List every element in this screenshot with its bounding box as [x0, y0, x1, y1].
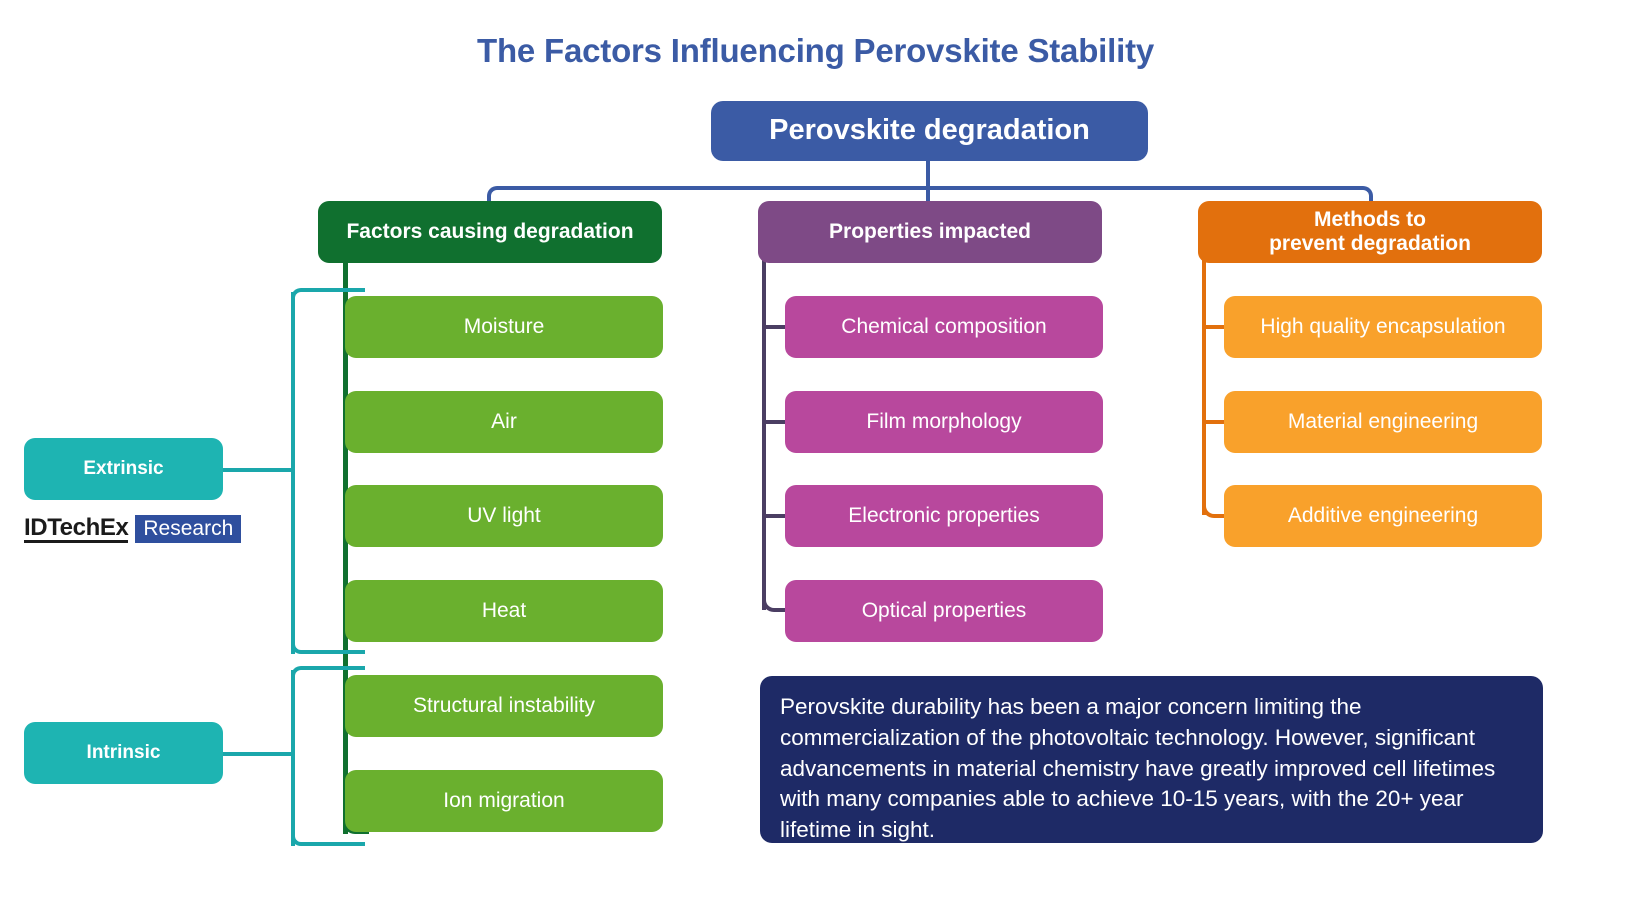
summary-note-text: Perovskite durability has been a major c…: [780, 694, 1495, 842]
column-header-properties-label: Properties impacted: [829, 220, 1031, 244]
intrinsic-lead-line: [223, 752, 293, 756]
leaf-optical-properties-label: Optical properties: [862, 599, 1027, 623]
intrinsic-bracket-bottom-arm: [305, 842, 365, 846]
column-header-methods-line1: Methods to: [1314, 208, 1426, 232]
group-node-intrinsic-label: Intrinsic: [87, 742, 161, 764]
leaf-moisture-label: Moisture: [464, 315, 545, 339]
properties-spine: [762, 258, 766, 610]
summary-note-panel: Perovskite durability has been a major c…: [760, 676, 1543, 843]
leaf-material-engineering-label: Material engineering: [1288, 410, 1478, 434]
column-header-factors[interactable]: Factors causing degradation: [318, 201, 662, 263]
root-connector-bus: [497, 186, 1363, 190]
methods-stub-1: [1202, 325, 1226, 329]
leaf-chemical-composition[interactable]: Chemical composition: [785, 296, 1103, 358]
extrinsic-lead-line: [223, 468, 293, 472]
group-node-extrinsic[interactable]: Extrinsic: [24, 438, 223, 500]
diagram-canvas: The Factors Influencing Perovskite Stabi…: [0, 0, 1631, 918]
root-node-label: Perovskite degradation: [769, 114, 1090, 147]
leaf-air[interactable]: Air: [345, 391, 663, 453]
column-header-properties[interactable]: Properties impacted: [758, 201, 1102, 263]
group-node-intrinsic[interactable]: Intrinsic: [24, 722, 223, 784]
leaf-optical-properties[interactable]: Optical properties: [785, 580, 1103, 642]
leaf-ion-migration[interactable]: Ion migration: [345, 770, 663, 832]
leaf-high-quality-encapsulation[interactable]: High quality encapsulation: [1224, 296, 1542, 358]
idtechex-logo-research-badge: Research: [135, 515, 241, 543]
column-header-methods[interactable]: Methods to prevent degradation: [1198, 201, 1542, 263]
leaf-high-quality-encapsulation-label: High quality encapsulation: [1260, 315, 1505, 339]
intrinsic-bracket-top-arm: [305, 666, 365, 670]
leaf-uv-light-label: UV light: [467, 504, 541, 528]
leaf-additive-engineering-label: Additive engineering: [1288, 504, 1478, 528]
leaf-electronic-properties-label: Electronic properties: [848, 504, 1039, 528]
leaf-structural-instability[interactable]: Structural instability: [345, 675, 663, 737]
leaf-material-engineering[interactable]: Material engineering: [1224, 391, 1542, 453]
leaf-air-label: Air: [491, 410, 517, 434]
leaf-structural-instability-label: Structural instability: [413, 694, 595, 718]
page-title: The Factors Influencing Perovskite Stabi…: [0, 32, 1631, 70]
idtechex-logo: IDTechEx Research: [24, 515, 241, 543]
leaf-ion-migration-label: Ion migration: [443, 789, 564, 813]
leaf-electronic-properties[interactable]: Electronic properties: [785, 485, 1103, 547]
extrinsic-bracket-vertical: [291, 292, 295, 654]
leaf-heat-label: Heat: [482, 599, 526, 623]
leaf-film-morphology[interactable]: Film morphology: [785, 391, 1103, 453]
properties-stub-1: [762, 325, 786, 329]
idtechex-logo-wordmark: IDTechEx: [24, 515, 128, 543]
intrinsic-bracket-vertical: [291, 670, 295, 846]
group-node-extrinsic-label: Extrinsic: [83, 458, 163, 480]
properties-stub-3: [762, 514, 786, 518]
leaf-moisture[interactable]: Moisture: [345, 296, 663, 358]
properties-stub-2: [762, 420, 786, 424]
leaf-film-morphology-label: Film morphology: [866, 410, 1021, 434]
extrinsic-bracket-top-arm: [305, 288, 365, 292]
extrinsic-bracket-bottom-arm: [305, 650, 365, 654]
leaf-uv-light[interactable]: UV light: [345, 485, 663, 547]
leaf-additive-engineering[interactable]: Additive engineering: [1224, 485, 1542, 547]
column-header-factors-label: Factors causing degradation: [346, 220, 633, 244]
column-header-methods-line2: prevent degradation: [1269, 232, 1471, 256]
methods-spine: [1202, 258, 1206, 515]
leaf-heat[interactable]: Heat: [345, 580, 663, 642]
root-node-perovskite-degradation[interactable]: Perovskite degradation: [711, 101, 1148, 161]
leaf-chemical-composition-label: Chemical composition: [841, 315, 1046, 339]
methods-stub-2: [1202, 420, 1226, 424]
